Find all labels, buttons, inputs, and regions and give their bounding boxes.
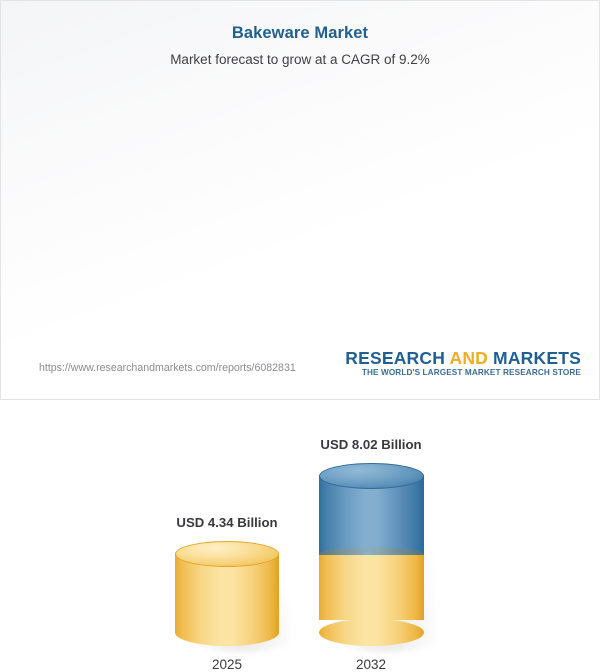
bar-top-cap [175,541,279,567]
source-url-link[interactable]: https://www.researchandmarkets.com/repor… [39,362,296,374]
cylinder-2032[interactable] [319,463,424,646]
bar-top-cap [319,463,424,489]
bar-segment-base [319,555,424,620]
brand-logo[interactable]: RESEARCH AND MARKETS THE WORLD'S LARGEST… [345,349,581,377]
value-label-2025: USD 4.34 Billion [127,515,327,530]
axis-label-2032: 2032 [271,657,471,672]
value-label-2032: USD 8.02 Billion [271,437,471,452]
plot-area: USD 4.34 Billion 2025 USD 8.02 Billion 2… [1,1,600,341]
bar-bottom-cap [319,619,424,646]
brand-logo-wordmark: RESEARCH AND MARKETS [345,349,581,367]
brand-logo-tagline: THE WORLD'S LARGEST MARKET RESEARCH STOR… [345,368,581,377]
cylinder-2025[interactable] [175,541,279,646]
footer: https://www.researchandmarkets.com/repor… [1,341,599,399]
brand-logo-part1: RESEARCH [345,348,449,368]
brand-logo-and: AND [449,348,488,368]
chart-card: Bakeware Market Market forecast to grow … [0,0,600,400]
bar-bottom-cap [175,619,279,646]
brand-logo-part3: MARKETS [488,348,581,368]
